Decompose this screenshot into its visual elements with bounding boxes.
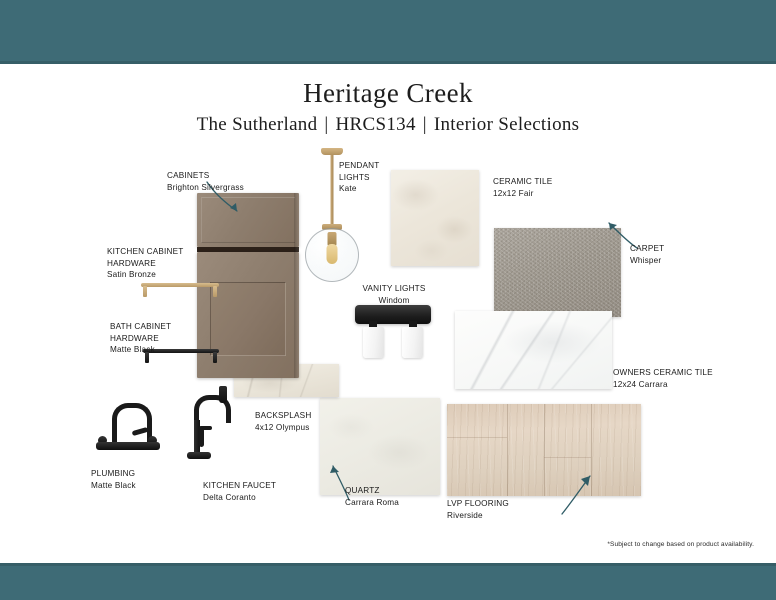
label-cabinets-category: CABINETS (167, 170, 244, 182)
kitchen-faucet-base (187, 452, 211, 459)
pendant-bulb (327, 244, 338, 264)
pendant-canopy (321, 148, 343, 155)
label-quartz-product: Carrara Roma (345, 497, 399, 509)
subtitle-separator-1: | (317, 114, 335, 135)
label-backsplash-category: BACKSPLASH (255, 410, 311, 422)
label-lvp-flooring-product: Riverside (447, 510, 509, 522)
label-kitchen-faucet-product: Delta Coranto (203, 492, 276, 504)
label-kitchen-cabinet-hardware-category: KITCHEN CABINET HARDWARE (107, 246, 183, 269)
label-quartz-category: QUARTZ (345, 485, 399, 497)
bottom-teal-band (0, 563, 776, 600)
label-kitchen-faucet-category: KITCHEN FAUCET (203, 480, 276, 492)
label-bath-cabinet-hardware: BATH CABINET HARDWARE Matte Black (110, 321, 171, 356)
label-owners-ceramic-tile: OWNERS CERAMIC TILE 12x24 Carrara (613, 367, 713, 390)
product-bath-faucet (96, 398, 162, 450)
label-backsplash: BACKSPLASH 4x12 Olympus (255, 410, 311, 433)
footer-disclaimer: *Subject to change based on product avai… (607, 541, 754, 548)
product-kitchen-cabinet-pull (141, 283, 219, 298)
label-bath-cabinet-hardware-product: Matte Black (110, 344, 171, 356)
label-ceramic-tile: CERAMIC TILE 12x12 Fair (493, 176, 552, 199)
board-header: Heritage Creek The Sutherland|HRCS134|In… (0, 78, 776, 136)
vanity-backplate (355, 305, 431, 324)
swatch-lvp-flooring (447, 404, 641, 496)
label-ceramic-tile-category: CERAMIC TILE (493, 176, 552, 188)
label-lvp-flooring: LVP FLOORING Riverside (447, 498, 509, 521)
bath-faucet-spout (112, 403, 152, 444)
swatch-ceramic-tile (391, 170, 479, 266)
arrow-to-lvp-flooring (556, 470, 600, 516)
product-kitchen-faucet (183, 393, 229, 459)
label-vanity-lights-category: VANITY LIGHTS (352, 283, 436, 295)
plan-name: The Sutherland (197, 114, 318, 135)
label-kitchen-cabinet-hardware-product: Satin Bronze (107, 269, 183, 281)
page-subtitle: The Sutherland|HRCS134|Interior Selectio… (0, 114, 776, 136)
label-carpet: CARPET Whisper (630, 243, 664, 266)
label-vanity-lights: VANITY LIGHTS Windom (352, 283, 436, 306)
product-vanity-light (355, 305, 431, 360)
pendant-rod (331, 155, 334, 225)
label-quartz: QUARTZ Carrara Roma (345, 485, 399, 508)
label-plumbing-category: PLUMBING (91, 468, 136, 480)
label-ceramic-tile-product: 12x12 Fair (493, 188, 552, 200)
label-carpet-category: CARPET (630, 243, 664, 255)
kitchen-faucet-gooseneck (194, 395, 231, 423)
subtitle-separator-2: | (416, 114, 434, 135)
swatch-owners-ceramic-tile (455, 311, 612, 389)
vanity-shade-right (402, 327, 423, 358)
label-kitchen-cabinet-hardware: KITCHEN CABINET HARDWARE Satin Bronze (107, 246, 183, 281)
top-teal-band (0, 0, 776, 64)
label-carpet-product: Whisper (630, 255, 664, 267)
selections-board: Heritage Creek The Sutherland|HRCS134|In… (0, 0, 776, 600)
label-owners-ceramic-tile-category: OWNERS CERAMIC TILE (613, 367, 713, 379)
label-cabinets: CABINETS Brighton Silvergrass (167, 170, 244, 193)
label-vanity-lights-product: Windom (352, 295, 436, 307)
cabinet-shaker-panel (210, 282, 286, 356)
bath-faucet-base (96, 442, 160, 450)
label-bath-cabinet-hardware-category: BATH CABINET HARDWARE (110, 321, 171, 344)
page-title: Heritage Creek (0, 78, 776, 109)
label-plumbing: PLUMBING Matte Black (91, 468, 136, 491)
label-lvp-flooring-category: LVP FLOORING (447, 498, 509, 510)
label-cabinets-product: Brighton Silvergrass (167, 182, 244, 194)
label-pendant-lights-product: Kate (339, 183, 379, 195)
plan-code: HRCS134 (336, 114, 416, 135)
kitchen-faucet-sprayhead (219, 386, 227, 403)
label-backsplash-product: 4x12 Olympus (255, 422, 311, 434)
section-name: Interior Selections (434, 114, 580, 135)
label-pendant-lights-category: PENDANT LIGHTS (339, 160, 379, 183)
vanity-shade-left (363, 327, 384, 358)
label-plumbing-product: Matte Black (91, 480, 136, 492)
label-pendant-lights: PENDANT LIGHTS Kate (339, 160, 379, 195)
kitchen-faucet-handle (199, 428, 204, 447)
label-owners-ceramic-tile-product: 12x24 Carrara (613, 379, 713, 391)
label-kitchen-faucet: KITCHEN FAUCET Delta Coranto (203, 480, 276, 503)
